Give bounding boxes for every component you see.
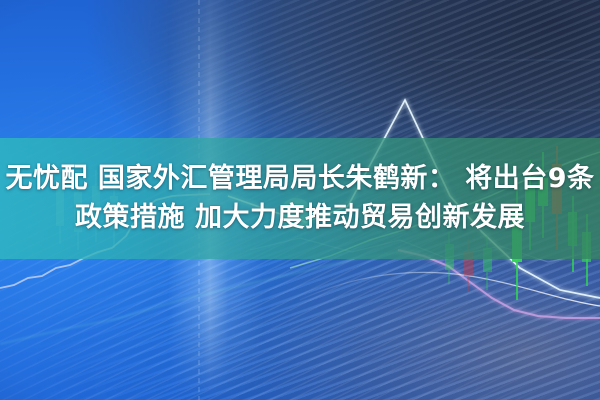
vignette-overlay: [0, 0, 600, 400]
news-banner: 无忧配 国家外汇管理局局长朱鹤新： 将出台9条 政策措施 加大力度推动贸易创新发…: [0, 0, 600, 400]
